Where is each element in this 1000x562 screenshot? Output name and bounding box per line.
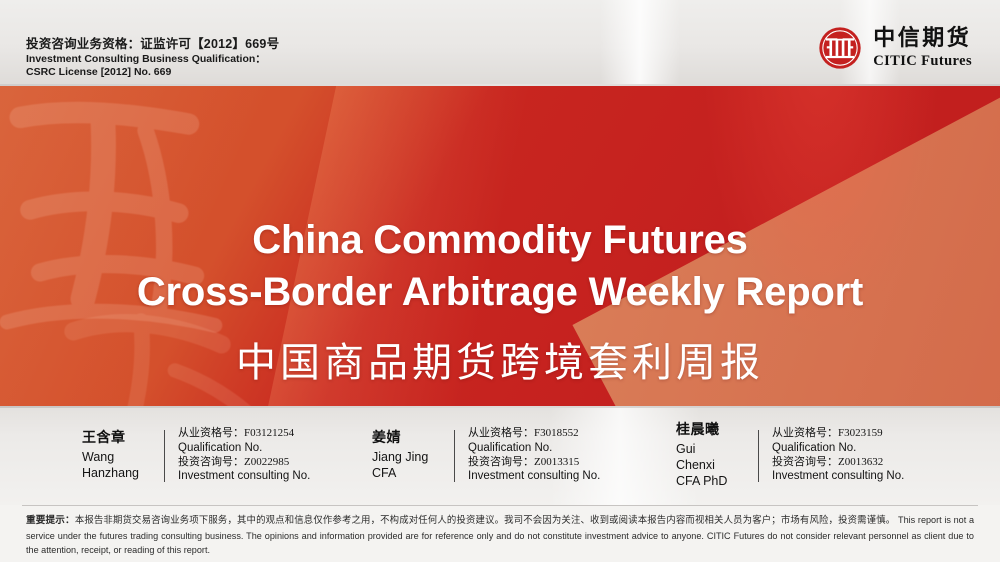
author-name-cn: 王含章 xyxy=(82,430,160,448)
consulting-no-en: Investment consulting No. xyxy=(178,469,310,484)
author-name-en-line1: Gui xyxy=(676,441,754,457)
logo-brand-en: CITIC Futures xyxy=(873,54,972,69)
disclaimer-text: 重要提示：本报告非期货交易咨询业务项下服务，其中的观点和信息仅作参考之用，不构成… xyxy=(26,513,974,558)
authors-strip: 王含章 Wang Hanzhang 从业资格号：F03121254 Qualif… xyxy=(0,406,1000,505)
report-cover-page: 投资咨询业务资格：证监许可【2012】669号 Investment Consu… xyxy=(0,0,1000,562)
author-name-en-line3: CFA PhD xyxy=(676,473,754,489)
author-name-cn: 姜婧 xyxy=(372,430,450,448)
qualification-no-en: Qualification No. xyxy=(178,441,310,456)
header-band: 投资咨询业务资格：证监许可【2012】669号 Investment Consu… xyxy=(0,0,1000,86)
report-title-en-line2: Cross-Border Arbitrage Weekly Report xyxy=(0,266,1000,318)
qualification-no-en: Qualification No. xyxy=(772,441,904,456)
author-credentials: 从业资格号：F3023159 Qualification No. 投资咨询号：Z… xyxy=(772,427,904,484)
report-title-en: China Commodity Futures Cross-Border Arb… xyxy=(0,214,1000,318)
author-name-en-line1: Jiang Jing xyxy=(372,449,450,465)
authors-row: 王含章 Wang Hanzhang 从业资格号：F03121254 Qualif… xyxy=(0,406,1000,505)
author-entry: 王含章 Wang Hanzhang 从业资格号：F03121254 Qualif… xyxy=(24,406,360,505)
author-credentials: 从业资格号：F03121254 Qualification No. 投资咨询号：… xyxy=(178,427,310,484)
citic-roundel-icon xyxy=(818,26,862,70)
license-en-line1: Investment Consulting Business Qualifica… xyxy=(26,53,279,67)
hero-banner: China Commodity Futures Cross-Border Arb… xyxy=(0,86,1000,406)
qualification-no-cn: 从业资格号：F3018552 xyxy=(468,427,600,441)
disclaimer-footer: 重要提示：本报告非期货交易咨询业务项下服务，其中的观点和信息仅作参考之用，不构成… xyxy=(0,505,1000,562)
author-entry: 桂晨曦 Gui Chenxi CFA PhD 从业资格号：F3023159 Qu… xyxy=(676,406,976,505)
author-name-en-line2: Chenxi xyxy=(676,457,754,473)
qualification-no-cn: 从业资格号：F03121254 xyxy=(178,427,310,441)
author-name: 王含章 Wang Hanzhang xyxy=(82,430,160,482)
logo-text-block: 中信期货 CITIC Futures xyxy=(873,27,972,69)
license-cn-text: 投资咨询业务资格：证监许可【2012】669号 xyxy=(26,36,279,53)
consulting-no-en: Investment consulting No. xyxy=(468,469,600,484)
report-title-en-line1: China Commodity Futures xyxy=(252,218,747,262)
author-name-cn: 桂晨曦 xyxy=(676,422,754,440)
consulting-no-cn: 投资咨询号：Z0022985 xyxy=(178,456,310,470)
author-divider xyxy=(758,430,759,482)
logo-brand-cn: 中信期货 xyxy=(873,27,972,49)
author-divider xyxy=(454,430,455,482)
author-name-en-line1: Wang xyxy=(82,449,160,465)
license-block: 投资咨询业务资格：证监许可【2012】669号 Investment Consu… xyxy=(26,36,279,80)
consulting-no-en: Investment consulting No. xyxy=(772,469,904,484)
report-title-cn: 中国商品期货跨境套利周报 xyxy=(0,330,1000,388)
consulting-no-cn: 投资咨询号：Z0013315 xyxy=(468,456,600,470)
qualification-no-en: Qualification No. xyxy=(468,441,600,456)
citic-futures-logo: 中信期货 CITIC Futures xyxy=(818,26,972,70)
author-name-en-line2: CFA xyxy=(372,465,450,481)
disclaimer-body-cn: 本报告非期货交易咨询业务项下服务，其中的观点和信息仅作参考之用，不构成对任何人的… xyxy=(75,516,896,526)
qualification-no-cn: 从业资格号：F3023159 xyxy=(772,427,904,441)
author-name: 姜婧 Jiang Jing CFA xyxy=(372,430,450,482)
license-en-line2: CSRC License [2012] No. 669 xyxy=(26,66,279,80)
author-name-en-line2: Hanzhang xyxy=(82,465,160,481)
disclaimer-label: 重要提示： xyxy=(26,515,75,526)
consulting-no-cn: 投资咨询号：Z0013632 xyxy=(772,456,904,470)
author-name: 桂晨曦 Gui Chenxi CFA PhD xyxy=(676,422,754,490)
author-entry: 姜婧 Jiang Jing CFA 从业资格号：F3018552 Qualifi… xyxy=(360,406,676,505)
author-credentials: 从业资格号：F3018552 Qualification No. 投资咨询号：Z… xyxy=(468,427,600,484)
author-divider xyxy=(164,430,165,482)
